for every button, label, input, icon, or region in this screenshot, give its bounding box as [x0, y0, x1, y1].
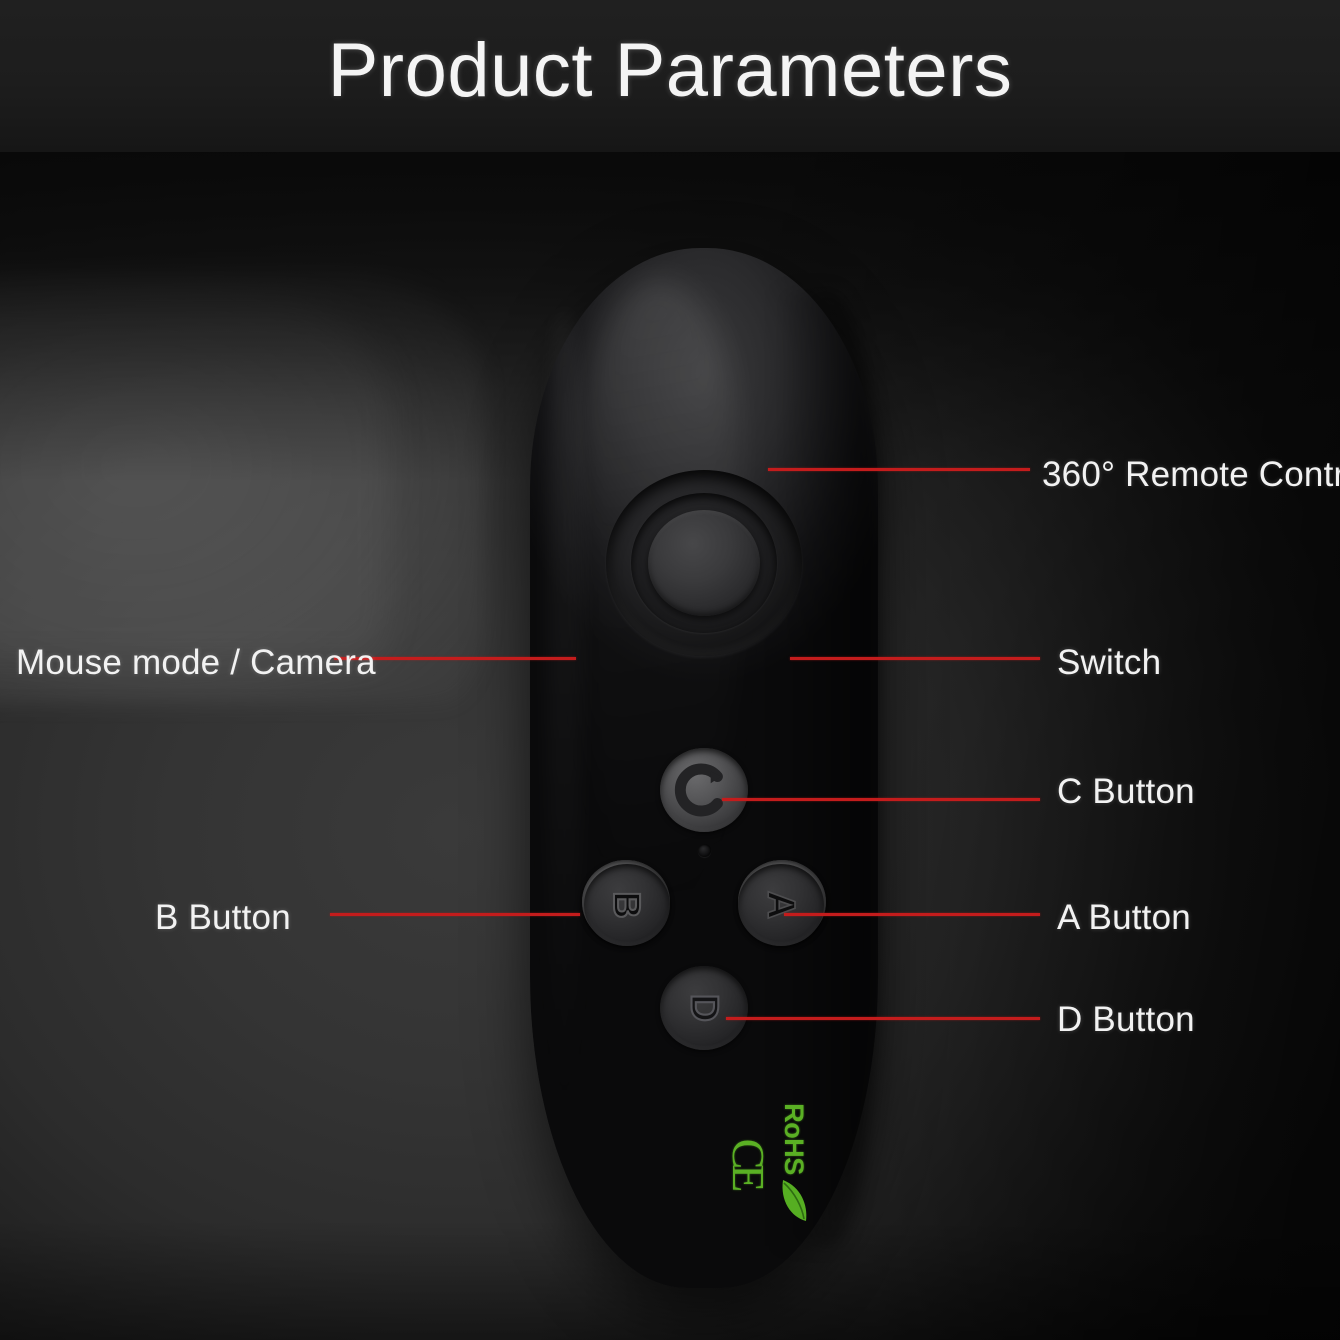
- rohs-label: RoHS: [781, 1103, 808, 1175]
- remote-controller-body: B A D RoHS: [530, 248, 878, 1288]
- callout-label-b-button: B Button: [155, 898, 291, 938]
- c-button-glyph: [660, 748, 748, 832]
- rohs-mark: RoHS: [779, 1103, 809, 1223]
- d-button-glyph: D: [660, 966, 748, 1050]
- b-button-icon[interactable]: B: [584, 864, 670, 946]
- callout-label-switch: Switch: [1057, 643, 1161, 683]
- joystick-ring: [631, 493, 777, 633]
- page-title: Product Parameters: [0, 0, 1340, 152]
- a-button-icon[interactable]: A: [738, 864, 824, 946]
- a-button-glyph: A: [738, 864, 824, 946]
- svg-text:D: D: [683, 994, 726, 1022]
- callout-label-c-button: C Button: [1057, 772, 1195, 812]
- leader-line-b-button: [330, 913, 580, 916]
- svg-text:B: B: [606, 891, 648, 918]
- leader-line-a-button: [784, 913, 1040, 916]
- leader-line-switch: [790, 657, 1040, 660]
- callout-label-d-button: D Button: [1057, 1000, 1195, 1040]
- leader-line-d-button: [726, 1017, 1040, 1020]
- leader-line-joystick: [768, 468, 1030, 471]
- led-indicator-icon: [698, 844, 711, 857]
- product-parameters-diagram: Product Parameters: [0, 0, 1340, 1340]
- leaf-icon: [779, 1177, 809, 1223]
- certification-marks: RoHS CE: [599, 1125, 809, 1201]
- b-button-glyph: B: [584, 864, 670, 946]
- d-button-icon[interactable]: D: [660, 966, 748, 1050]
- ce-mark: CE: [725, 1139, 771, 1188]
- callout-label-mouse-mode: Mouse mode / Camera: [16, 643, 376, 683]
- leader-line-c-button: [722, 798, 1040, 801]
- callout-label-joystick: 360° Remote Control: [1042, 455, 1340, 495]
- joystick-well: [606, 470, 802, 656]
- callout-label-a-button: A Button: [1057, 898, 1191, 938]
- joystick-icon[interactable]: [648, 510, 760, 616]
- c-button-icon[interactable]: [660, 748, 748, 832]
